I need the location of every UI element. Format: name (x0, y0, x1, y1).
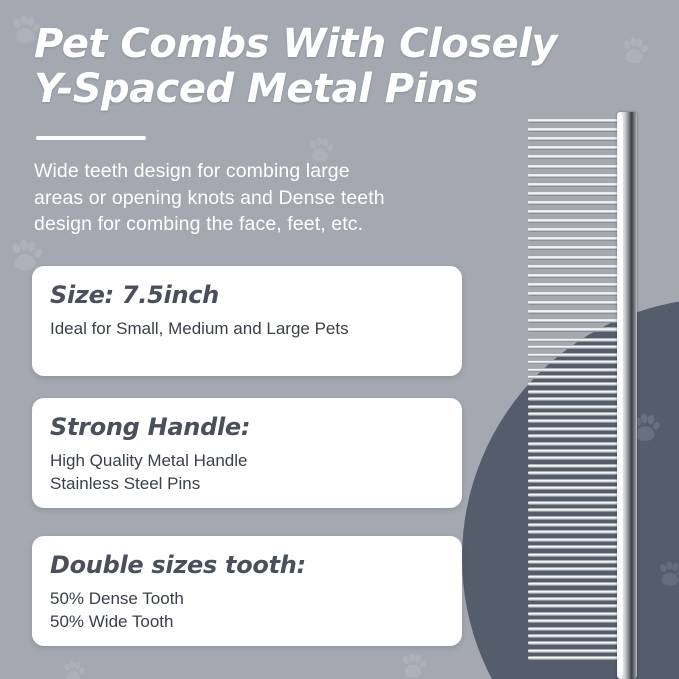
comb-tooth-dense (528, 412, 620, 416)
feature-card-line: Stainless Steel Pins (50, 472, 444, 495)
comb-tooth-wide (528, 209, 620, 214)
comb-tooth-dense (528, 405, 620, 409)
subtitle-line-1: Wide teeth design for combing large (34, 158, 464, 185)
comb-tooth-dense (528, 353, 620, 357)
feature-card-line: Ideal for Small, Medium and Large Pets (50, 317, 444, 340)
comb-tooth-dense (528, 360, 620, 364)
subtitle-line-2: areas or opening knots and Dense teeth (34, 185, 464, 212)
headline-line-1: Pet Combs With Closely (34, 21, 557, 67)
comb-tooth-dense (528, 368, 620, 372)
comb-tooth-dense (528, 442, 620, 446)
comb-tooth-wide (528, 145, 620, 150)
comb-tooth-dense (528, 516, 620, 520)
comb-tooth-dense (528, 553, 620, 557)
comb-tooth-dense (528, 597, 620, 601)
comb-tooth-wide (528, 218, 620, 223)
comb-tooth-dense (528, 582, 620, 586)
comb-tooth-wide (528, 291, 620, 296)
comb-tooth-dense (528, 345, 620, 349)
comb-tooth-dense (528, 397, 620, 401)
comb-tooth-wide (528, 191, 620, 196)
comb-tooth-dense (528, 545, 620, 549)
headline-line-2: Y-Spaced Metal Pins (34, 67, 594, 112)
comb-tooth-wide (528, 282, 620, 287)
comb-tooth-wide (528, 327, 620, 332)
comb-tooth-dense (528, 464, 620, 468)
paw-print-icon (618, 36, 650, 68)
subtitle-text: Wide teeth design for combing large area… (34, 158, 464, 238)
comb-tooth-dense (528, 419, 620, 423)
feature-card-body: 50% Dense Tooth 50% Wide Tooth (50, 587, 444, 633)
comb-tooth-wide (528, 309, 620, 314)
comb-tooth-wide (528, 154, 620, 159)
comb-metal-spine (617, 112, 637, 679)
comb-tooth-dense (528, 338, 620, 342)
product-image-pet-comb (505, 112, 650, 679)
feature-card-title: Strong Handle: (50, 412, 444, 442)
comb-tooth-dense (528, 604, 620, 608)
comb-tooth-dense (528, 538, 620, 542)
feature-card-line: High Quality Metal Handle (50, 449, 444, 472)
feature-card-size: Size: 7.5inch Ideal for Small, Medium an… (32, 266, 462, 376)
comb-tooth-dense (528, 375, 620, 379)
comb-tooth-wide (528, 136, 620, 141)
comb-tooth-dense (528, 641, 620, 645)
comb-tooth-dense (528, 575, 620, 579)
comb-tooth-dense (528, 486, 620, 490)
comb-tooth-wide (528, 245, 620, 250)
comb-tooth-dense (528, 567, 620, 571)
infographic-canvas: Pet Combs With Closely Y-Spaced Metal Pi… (0, 0, 679, 679)
comb-tooth-wide (528, 182, 620, 187)
feature-card-line: 50% Wide Tooth (50, 610, 444, 633)
comb-tooth-dense (528, 493, 620, 497)
comb-tooth-dense (528, 501, 620, 505)
comb-tooth-wide (528, 318, 620, 323)
comb-tooth-dense (528, 434, 620, 438)
comb-tooth-dense (528, 390, 620, 394)
comb-tooth-dense (528, 530, 620, 534)
comb-tooth-dense (528, 612, 620, 616)
comb-tooth-wide (528, 264, 620, 269)
page-title: Pet Combs With Closely Y-Spaced Metal Pi… (34, 22, 594, 112)
paw-print-icon (618, 36, 650, 68)
comb-tooth-wide (528, 127, 620, 132)
feature-card-body: Ideal for Small, Medium and Large Pets (50, 317, 444, 340)
comb-tooth-wide (528, 118, 620, 123)
comb-tooth-dense (528, 471, 620, 475)
comb-tooth-dense (528, 627, 620, 631)
comb-tooth-dense (528, 449, 620, 453)
comb-tooth-dense (528, 508, 620, 512)
comb-tooth-dense (528, 456, 620, 460)
feature-card-line: 50% Dense Tooth (50, 587, 444, 610)
comb-tooth-dense (528, 656, 620, 660)
comb-tooth-wide (528, 236, 620, 241)
feature-card-title: Size: 7.5inch (50, 280, 444, 310)
comb-tooth-wide (528, 164, 620, 169)
comb-tooth-wide (528, 200, 620, 205)
comb-tooth-wide (528, 273, 620, 278)
comb-tooth-wide (528, 173, 620, 178)
comb-tooth-wide (528, 300, 620, 305)
feature-card-handle: Strong Handle: High Quality Metal Handle… (32, 398, 462, 508)
comb-tooth-dense (528, 560, 620, 564)
feature-card-body: High Quality Metal Handle Stainless Stee… (50, 449, 444, 495)
comb-tooth-dense (528, 649, 620, 653)
comb-tooth-dense (528, 634, 620, 638)
comb-tooth-dense (528, 479, 620, 483)
comb-tooth-dense (528, 619, 620, 623)
feature-card-tooth: Double sizes tooth: 50% Dense Tooth 50% … (32, 536, 462, 646)
comb-tooth-wide (528, 227, 620, 232)
feature-card-title: Double sizes tooth: (50, 550, 444, 580)
comb-tooth-dense (528, 427, 620, 431)
comb-tooth-wide (528, 255, 620, 260)
comb-tooth-dense (528, 523, 620, 527)
paw-print-icon (398, 652, 428, 679)
comb-tooth-dense (528, 382, 620, 386)
subtitle-line-3: design for combing the face, feet, etc. (34, 211, 464, 238)
comb-tooth-dense (528, 590, 620, 594)
title-divider (36, 136, 146, 140)
paw-print-icon (398, 652, 428, 679)
